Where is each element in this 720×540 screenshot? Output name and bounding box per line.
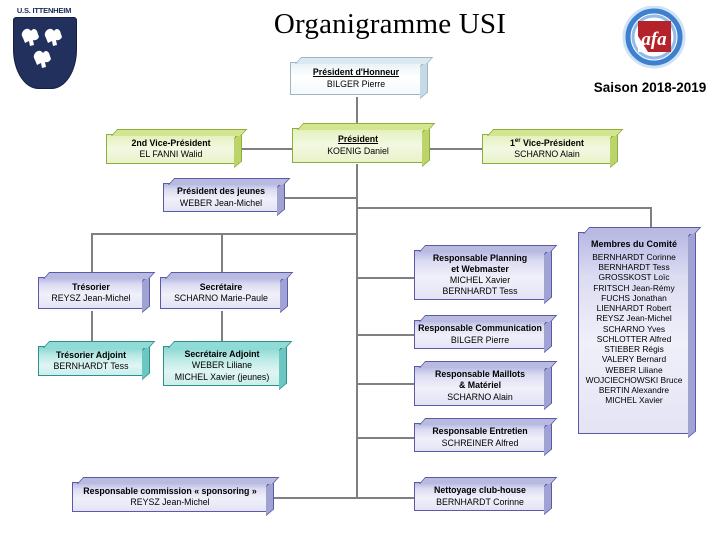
list-item: LIENHARDT Robert <box>582 303 686 313</box>
connector-trunk-entretien <box>356 437 414 439</box>
node-person: KOENIG Daniel <box>327 146 389 157</box>
node-person: BILGER Pierre <box>327 79 385 90</box>
list-item: VALERY Bernard <box>582 354 686 364</box>
node-secretaire[interactable]: Secrétaire SCHARNO Marie-Paule <box>160 277 282 309</box>
connector-trunk-jeunes <box>279 197 358 199</box>
list-item: WEBER Liliane <box>582 365 686 375</box>
committee-title: Membres du Comité <box>582 239 686 250</box>
list-item: STIEBER Régis <box>582 344 686 354</box>
connector-president-vp1 <box>424 148 482 150</box>
node-responsable-maillots[interactable]: Responsable Maillots & Matériel SCHARNO … <box>414 366 546 406</box>
afa-logo-svg: afa <box>618 6 690 72</box>
list-item: WOJCIECHOWSKI Bruce <box>582 375 686 385</box>
node-responsable-planning[interactable]: Responsable Planning et Webmaster MICHEL… <box>414 250 546 300</box>
connector-trunk-planning <box>356 277 414 279</box>
page-title: Organigramme USI <box>200 8 580 41</box>
connector-trunk-maillots <box>356 383 414 385</box>
node-person: SCHARNO Alain <box>447 392 513 403</box>
list-item: REYSZ Jean-Michel <box>582 313 686 323</box>
list-item: SCHARNO Yves <box>582 324 686 334</box>
list-item: MICHEL Xavier <box>582 395 686 405</box>
node-title-line2: & Matériel <box>459 380 501 391</box>
connector-secretaire-adjoint <box>221 311 223 344</box>
node-responsable-sponsoring[interactable]: Responsable commission « sponsoring » RE… <box>72 482 268 512</box>
node-person: SCHARNO Alain <box>514 149 580 160</box>
node-president-honneur[interactable]: Président d'Honneur BILGER Pierre <box>290 62 422 95</box>
node-membres-comite[interactable]: Membres du Comité BERNHARDT Corinne BERN… <box>578 232 690 434</box>
node-title: Nettoyage club-house <box>434 485 526 496</box>
list-item: FUCHS Jonathan <box>582 293 686 303</box>
node-title: Secrétaire Adjoint <box>185 349 260 360</box>
club-crest-label: U.S. ITTENHEIM <box>10 6 78 15</box>
node-title: Président d'Honneur <box>313 67 399 78</box>
connector-sponsoring-trunk <box>272 497 358 499</box>
node-title: Trésorier Adjoint <box>56 350 126 361</box>
node-person: WEBER Jean-Michel <box>180 198 262 209</box>
node-person: EL FANNI Walid <box>140 149 203 160</box>
committee-member-list: BERNHARDT Corinne BERNHARDT Tess GROSSKO… <box>582 252 686 406</box>
club-crest: U.S. ITTENHEIM <box>10 6 78 88</box>
node-tresorier-adjoint[interactable]: Trésorier Adjoint BERNHARDT Tess <box>38 346 144 376</box>
connector-trunk-committee <box>356 207 652 209</box>
connector-tresorier-adjoint <box>91 311 93 344</box>
connector-trunk-communication <box>356 334 414 336</box>
node-title: Responsable commission « sponsoring » <box>83 486 257 497</box>
node-president-jeunes[interactable]: Président des jeunes WEBER Jean-Michel <box>163 183 279 212</box>
node-title: Secrétaire <box>200 282 243 293</box>
node-person: REYSZ Jean-Michel <box>130 497 209 508</box>
connector-trunk-main <box>356 164 358 498</box>
node-nettoyage-club-house[interactable]: Nettoyage club-house BERNHARDT Corinne <box>414 482 546 511</box>
node-person-2: BERNHARDT Tess <box>443 286 518 297</box>
svg-text:afa: afa <box>641 29 667 50</box>
connector-drop-tresorier <box>91 233 93 275</box>
node-secretaire-adjoint[interactable]: Secrétaire Adjoint WEBER Liliane MICHEL … <box>163 346 281 386</box>
list-item: BERNHARDT Corinne <box>582 252 686 262</box>
shield-lions-icon <box>13 17 77 89</box>
node-person-1: WEBER Liliane <box>192 360 252 371</box>
connector-drop-secretaire <box>221 233 223 275</box>
node-person-2: MICHEL Xavier (jeunes) <box>175 372 270 383</box>
node-title: Responsable Entretien <box>432 426 527 437</box>
node-title: Président des jeunes <box>177 186 265 197</box>
list-item: BERNHARDT Tess <box>582 262 686 272</box>
node-person: BERNHARDT Tess <box>54 361 129 372</box>
node-tresorier[interactable]: Trésorier REYSZ Jean-Michel <box>38 277 144 309</box>
node-title: 1er Vice-Président <box>510 138 584 149</box>
node-title-line1: Responsable Planning <box>433 253 527 264</box>
afa-logo-icon: afa <box>618 6 690 72</box>
node-title: Président <box>338 134 378 145</box>
node-vice-president-1[interactable]: 1er Vice-Président SCHARNO Alain <box>482 134 612 164</box>
node-person: BILGER Pierre <box>451 335 509 346</box>
node-title: Responsable Communication <box>418 323 542 334</box>
node-vice-president-2[interactable]: 2nd Vice-Président EL FANNI Walid <box>106 134 236 164</box>
node-title: 2nd Vice-Président <box>131 138 210 149</box>
season-label: Saison 2018-2019 <box>580 80 720 95</box>
list-item: SCHLOTTER Alfred <box>582 334 686 344</box>
connector-president-vp2 <box>236 148 294 150</box>
node-president[interactable]: Président KOENIG Daniel <box>292 128 424 163</box>
node-person: SCHREINER Alfred <box>442 438 519 449</box>
node-person-1: MICHEL Xavier <box>450 275 510 286</box>
node-title: Trésorier <box>72 282 110 293</box>
connector-trunk-left-bar <box>91 233 358 235</box>
crest-lions-svg <box>14 18 76 88</box>
connector-trunk-nettoyage <box>356 497 414 499</box>
node-responsable-communication[interactable]: Responsable Communication BILGER Pierre <box>414 320 546 349</box>
list-item: BERTIN Alexandre <box>582 385 686 395</box>
list-item: GROSSKOST Loïc <box>582 272 686 282</box>
node-title-line1: Responsable Maillots <box>435 369 525 380</box>
node-responsable-entretien[interactable]: Responsable Entretien SCHREINER Alfred <box>414 423 546 452</box>
node-title-line2: et Webmaster <box>451 264 509 275</box>
node-person: BERNHARDT Corinne <box>436 497 524 508</box>
list-item: FRITSCH Jean-Rémy <box>582 283 686 293</box>
node-person: SCHARNO Marie-Paule <box>174 293 268 304</box>
node-person: REYSZ Jean-Michel <box>51 293 130 304</box>
